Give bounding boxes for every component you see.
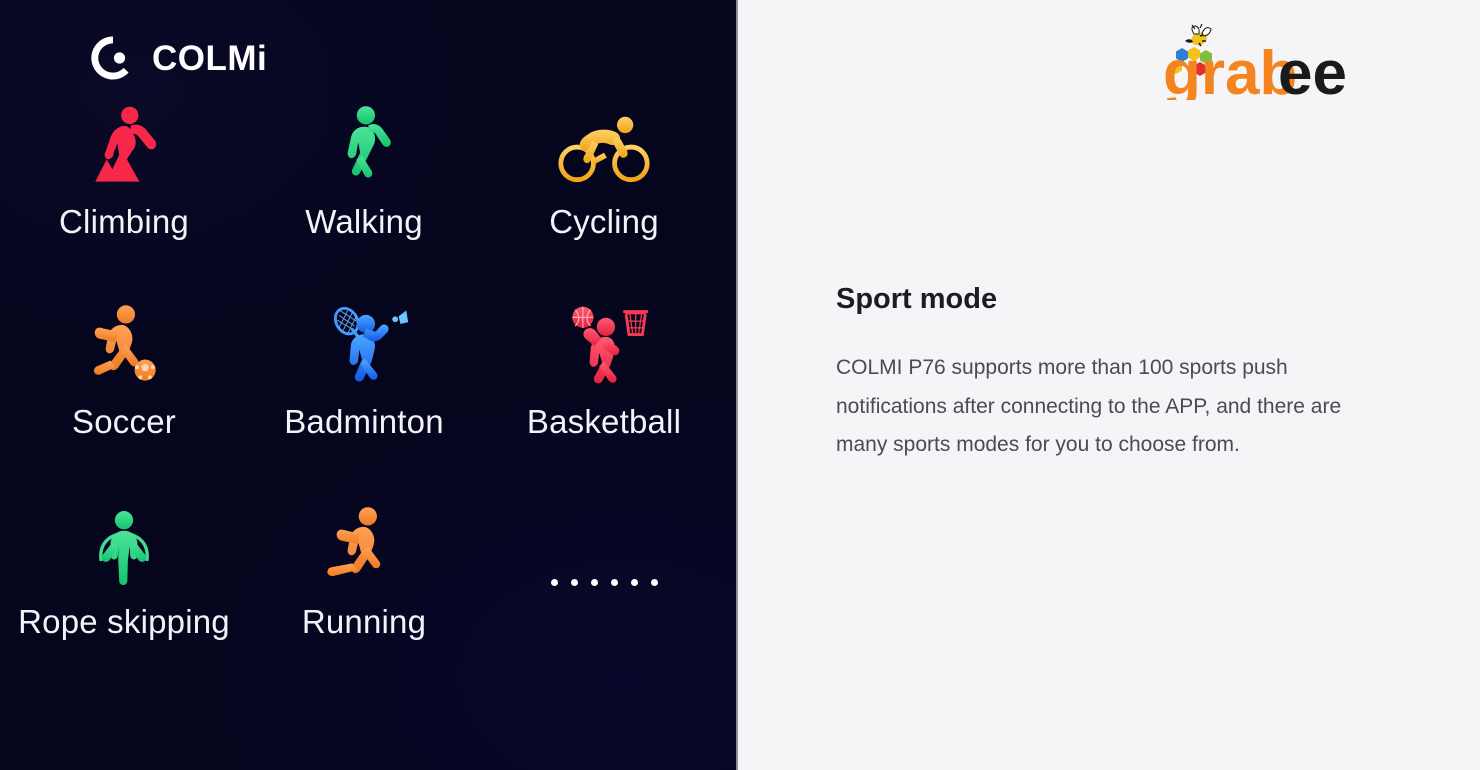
sport-item-walking[interactable]: Walking — [244, 100, 484, 300]
sport-item-basketball[interactable]: Basketball — [484, 300, 724, 500]
sport-item-badminton[interactable]: Badminton — [244, 300, 484, 500]
feature-copy: Sport mode COLMI P76 supports more than … — [836, 282, 1396, 465]
more-sports-indicator — [484, 500, 724, 700]
ellipsis-dot — [591, 579, 598, 586]
sport-label: Soccer — [72, 404, 176, 440]
sports-showcase-panel: COLMi Climbing — [0, 0, 736, 770]
sports-grid: Climbing — [0, 100, 736, 700]
grabee-wordmark-secondary: ee — [1278, 39, 1347, 100]
feature-title: Sport mode — [836, 282, 1396, 317]
grabee-bee-logo: grab ee — [1160, 24, 1365, 100]
walking-icon — [316, 100, 412, 196]
badminton-icon — [316, 300, 412, 396]
sport-item-soccer[interactable]: Soccer — [4, 300, 244, 500]
ellipsis-dot — [651, 579, 658, 586]
sport-label: Climbing — [59, 204, 189, 240]
running-icon — [316, 500, 412, 596]
sport-item-cycling[interactable]: Cycling — [484, 100, 724, 300]
sport-label: Running — [302, 604, 426, 640]
feature-description: COLMI P76 supports more than 100 sports … — [836, 349, 1396, 466]
ellipsis-dot — [631, 579, 638, 586]
sport-label: Rope skipping — [18, 604, 230, 640]
colmi-ring-icon — [88, 33, 138, 83]
ellipsis-dot — [551, 579, 558, 586]
colmi-brand-lockup: COLMi — [88, 33, 267, 83]
panel-divider — [736, 0, 738, 770]
soccer-icon — [76, 300, 172, 396]
sport-label: Cycling — [549, 204, 659, 240]
sport-label: Walking — [305, 204, 423, 240]
rope-skipping-icon — [76, 500, 172, 596]
ellipsis-dot — [571, 579, 578, 586]
colmi-brand-name: COLMi — [152, 41, 267, 76]
sport-item-climbing[interactable]: Climbing — [4, 100, 244, 300]
sport-mode-feature-slide: COLMi Climbing — [0, 0, 1480, 770]
description-panel: grab ee Sport mode COLMI P76 supports mo… — [736, 0, 1480, 770]
ellipsis-dot — [611, 579, 618, 586]
sport-item-running[interactable]: Running — [244, 500, 484, 700]
sport-item-rope-skipping[interactable]: Rope skipping — [4, 500, 244, 700]
basketball-icon — [556, 300, 652, 396]
cycling-icon — [556, 100, 652, 196]
ellipsis-dots-icon — [551, 579, 658, 586]
sport-label: Basketball — [527, 404, 681, 440]
climbing-icon — [76, 100, 172, 196]
sport-label: Badminton — [284, 404, 444, 440]
